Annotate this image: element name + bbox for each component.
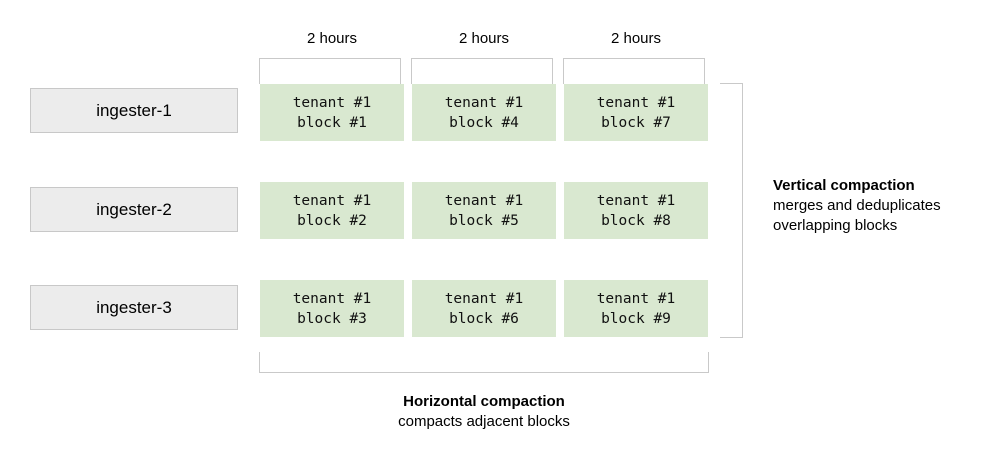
vertical-compaction-title: Vertical compaction <box>773 176 941 196</box>
horizontal-compaction-line-1: compacts adjacent blocks <box>284 412 684 432</box>
block-cell-r1c1[interactable]: tenant #1 block #1 <box>260 84 404 141</box>
ingester-label-3: ingester-3 <box>96 298 172 318</box>
time-span-bracket-column-3 <box>563 58 705 84</box>
vertical-compaction-line-1: merges and deduplicates <box>773 196 941 216</box>
time-span-bracket-column-1 <box>259 58 401 84</box>
block-id-r1c1: block #1 <box>297 113 367 133</box>
ingester-box-1[interactable]: ingester-1 <box>30 88 238 133</box>
block-id-r1c2: block #4 <box>449 113 519 133</box>
diagram-canvas: 2 hours 2 hours 2 hours ingester-1 inges… <box>0 0 1002 453</box>
vertical-compaction-line-2: overlapping blocks <box>773 216 941 236</box>
block-id-r2c3: block #8 <box>601 211 671 231</box>
block-tenant-r1c1: tenant #1 <box>293 93 372 113</box>
ingester-box-2[interactable]: ingester-2 <box>30 187 238 232</box>
block-tenant-r3c1: tenant #1 <box>293 289 372 309</box>
time-label-column-2: 2 hours <box>412 30 556 48</box>
block-id-r1c3: block #7 <box>601 113 671 133</box>
horizontal-compaction-bracket <box>259 352 709 373</box>
block-tenant-r2c3: tenant #1 <box>597 191 676 211</box>
horizontal-compaction-title: Horizontal compaction <box>284 392 684 412</box>
block-tenant-r3c2: tenant #1 <box>445 289 524 309</box>
block-tenant-r2c2: tenant #1 <box>445 191 524 211</box>
block-id-r2c1: block #2 <box>297 211 367 231</box>
block-cell-r2c2[interactable]: tenant #1 block #5 <box>412 182 556 239</box>
block-id-r2c2: block #5 <box>449 211 519 231</box>
ingester-label-1: ingester-1 <box>96 101 172 121</box>
block-cell-r2c1[interactable]: tenant #1 block #2 <box>260 182 404 239</box>
time-label-column-1: 2 hours <box>260 30 404 48</box>
ingester-label-2: ingester-2 <box>96 200 172 220</box>
time-span-bracket-column-2 <box>411 58 553 84</box>
block-tenant-r2c1: tenant #1 <box>293 191 372 211</box>
block-cell-r2c3[interactable]: tenant #1 block #8 <box>564 182 708 239</box>
time-label-column-3: 2 hours <box>564 30 708 48</box>
block-tenant-r1c3: tenant #1 <box>597 93 676 113</box>
vertical-compaction-bracket <box>720 83 743 338</box>
block-cell-r3c3[interactable]: tenant #1 block #9 <box>564 280 708 337</box>
block-id-r3c1: block #3 <box>297 309 367 329</box>
horizontal-compaction-note: Horizontal compaction compacts adjacent … <box>284 392 684 432</box>
block-tenant-r1c2: tenant #1 <box>445 93 524 113</box>
block-cell-r1c2[interactable]: tenant #1 block #4 <box>412 84 556 141</box>
block-cell-r1c3[interactable]: tenant #1 block #7 <box>564 84 708 141</box>
block-tenant-r3c3: tenant #1 <box>597 289 676 309</box>
vertical-compaction-note: Vertical compaction merges and deduplica… <box>773 176 941 236</box>
ingester-box-3[interactable]: ingester-3 <box>30 285 238 330</box>
block-id-r3c2: block #6 <box>449 309 519 329</box>
block-cell-r3c1[interactable]: tenant #1 block #3 <box>260 280 404 337</box>
block-cell-r3c2[interactable]: tenant #1 block #6 <box>412 280 556 337</box>
block-id-r3c3: block #9 <box>601 309 671 329</box>
